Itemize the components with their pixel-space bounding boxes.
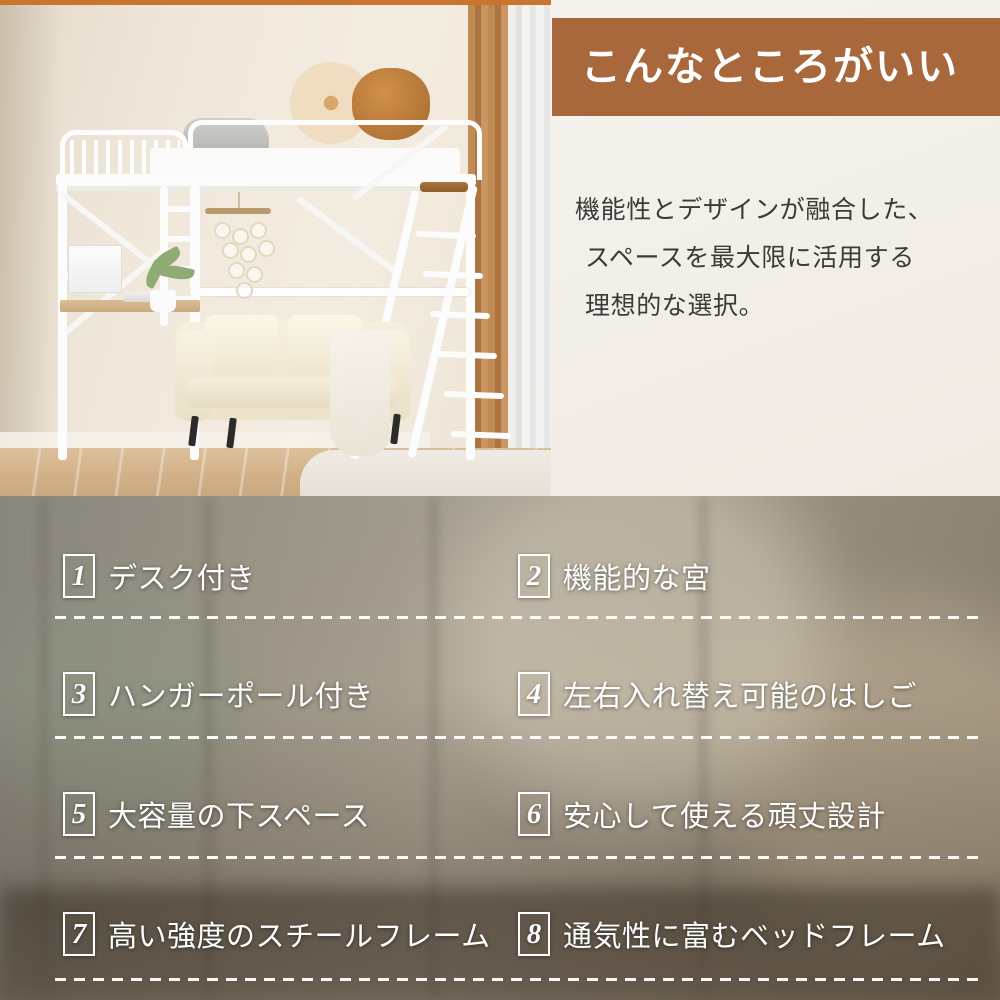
features-section: 1 デスク付き 2 機能的な宮 3 ハンガーポール付き 4 左右入れ替え可能のは… <box>0 496 1000 1000</box>
feature-number-badge: 3 <box>63 672 95 716</box>
feature-number-badge: 1 <box>63 554 95 598</box>
sofa-arm-left <box>176 330 212 422</box>
bed-deck-beam <box>56 174 476 186</box>
feature-number-badge: 4 <box>518 672 550 716</box>
area-rug <box>300 450 551 496</box>
intro-column: こんなところがいい 機能性とデザインが融合した、 スペースを最大限に活用する 理… <box>551 0 1000 496</box>
feature-number-badge: 8 <box>518 912 550 956</box>
sofa-throw-blanket <box>330 330 390 456</box>
sheer-curtain <box>508 0 551 470</box>
wall-hanging-ring <box>246 266 263 283</box>
feature-divider <box>55 736 980 739</box>
wall-hanging-ring <box>228 262 245 279</box>
feature-label: 安心して使える頑丈設計 <box>563 793 886 835</box>
wood-shelf <box>420 182 468 192</box>
feature-divider-bottom <box>55 978 980 981</box>
intro-line-2: スペースを最大限に活用する <box>575 234 985 282</box>
feature-label: 左右入れ替え可能のはしご <box>563 673 917 715</box>
photo-accent-top-line <box>0 0 551 5</box>
section-banner: こんなところがいい <box>552 18 1000 116</box>
wall-hanging-stick <box>205 208 271 214</box>
wall-shadow <box>0 0 62 455</box>
wall-hanging-ring <box>258 240 275 257</box>
wall-hanging-ring <box>222 242 239 259</box>
inner-ladder-rung <box>160 236 194 242</box>
feature-divider <box>55 856 980 859</box>
frame-cross-beam <box>190 288 470 296</box>
plant-pot <box>150 290 176 312</box>
feature-number-badge: 5 <box>63 792 95 836</box>
wall-hanging-ring <box>250 222 267 239</box>
feature-item-7[interactable]: 7 高い強度のスチールフレーム <box>0 874 500 994</box>
wall-hanging-ring <box>214 222 231 239</box>
product-feature-page: こんなところがいい 機能性とデザインが融合した、 スペースを最大限に活用する 理… <box>0 0 1000 1000</box>
banner-title: こんなところがいい <box>581 47 959 87</box>
feature-label: デスク付き <box>108 555 256 597</box>
feature-number-badge: 7 <box>63 912 95 956</box>
feature-item-8[interactable]: 8 通気性に富むベッドフレーム <box>500 874 1000 994</box>
feature-number-badge: 6 <box>518 792 550 836</box>
intro-line-3: 理想的な選択。 <box>575 282 985 330</box>
feature-label: 通気性に富むベッドフレーム <box>563 913 946 955</box>
intro-paragraph: 機能性とデザインが融合した、 スペースを最大限に活用する 理想的な選択。 <box>575 186 985 330</box>
features-grid: 1 デスク付き 2 機能的な宮 3 ハンガーポール付き 4 左右入れ替え可能のは… <box>0 496 1000 1000</box>
wall-hanging-ring <box>240 246 257 263</box>
feature-divider <box>55 616 980 619</box>
product-photo <box>0 0 551 496</box>
books-stack <box>68 245 122 293</box>
feature-label: 高い強度のスチールフレーム <box>108 913 491 955</box>
intro-line-1: 機能性とデザインが融合した、 <box>575 186 985 234</box>
feature-label: 大容量の下スペース <box>108 793 370 835</box>
wall-hanging-ring <box>236 282 253 299</box>
feature-label: 機能的な宮 <box>563 555 711 597</box>
feature-label: ハンガーポール付き <box>108 673 374 715</box>
feature-row-4: 7 高い強度のスチールフレーム 8 通気性に富むベッドフレーム <box>0 874 1000 994</box>
feature-number-badge: 2 <box>518 554 550 598</box>
inner-ladder-rung <box>160 206 194 212</box>
sofa-cushion-left <box>205 315 279 373</box>
top-section: こんなところがいい 機能性とデザインが融合した、 スペースを最大限に活用する 理… <box>0 0 1000 496</box>
frame-post-left <box>58 175 67 460</box>
